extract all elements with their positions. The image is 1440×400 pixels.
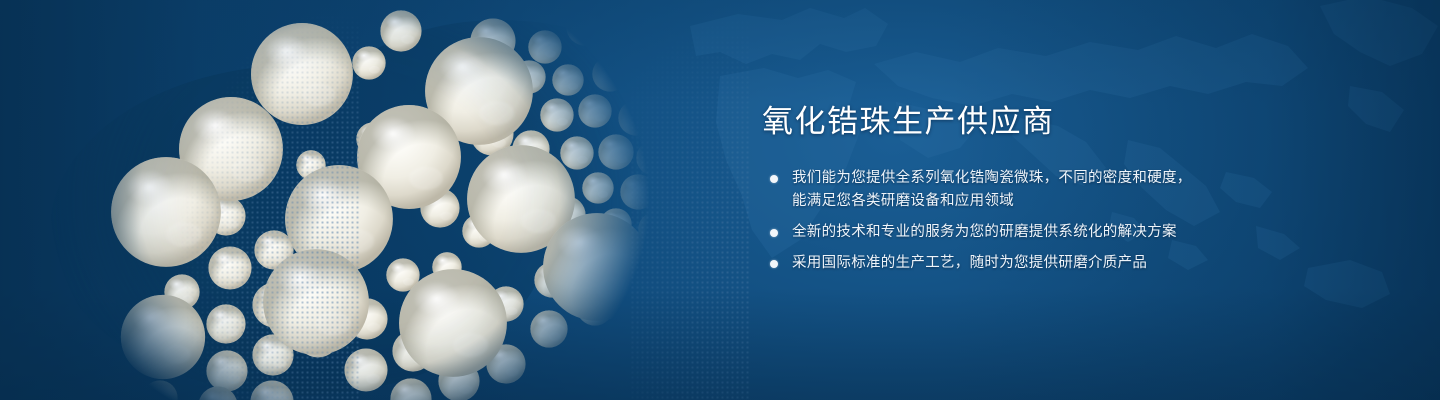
page-title: 氧化锆珠生产供应商 xyxy=(762,104,1382,141)
zirconia-beads-image xyxy=(0,0,760,400)
list-item-line: 能满足您各类研磨设备和应用领域 xyxy=(792,190,1382,213)
list-item: 全新的技术和专业的服务为您的研磨提供系统化的解决方案 xyxy=(762,221,1382,244)
list-item-line: 全新的技术和专业的服务为您的研磨提供系统化的解决方案 xyxy=(792,221,1382,244)
list-item: 采用国际标准的生产工艺，随时为您提供研磨介质产品 xyxy=(762,252,1382,275)
bullet-dot-icon xyxy=(770,175,778,183)
feature-list: 我们能为您提供全系列氧化锆陶瓷微珠，不同的密度和硬度， 能满足您各类研磨设备和应… xyxy=(762,167,1382,275)
list-item-line: 我们能为您提供全系列氧化锆陶瓷微珠，不同的密度和硬度， xyxy=(792,167,1382,190)
hero-banner: 氧化锆珠生产供应商 我们能为您提供全系列氧化锆陶瓷微珠，不同的密度和硬度， 能满… xyxy=(0,0,1440,400)
bullet-dot-icon xyxy=(770,229,778,237)
list-item-line: 采用国际标准的生产工艺，随时为您提供研磨介质产品 xyxy=(792,252,1382,275)
list-item: 我们能为您提供全系列氧化锆陶瓷微珠，不同的密度和硬度， 能满足您各类研磨设备和应… xyxy=(762,167,1382,213)
bullet-dot-icon xyxy=(770,260,778,268)
banner-copy: 氧化锆珠生产供应商 我们能为您提供全系列氧化锆陶瓷微珠，不同的密度和硬度， 能满… xyxy=(762,104,1382,275)
